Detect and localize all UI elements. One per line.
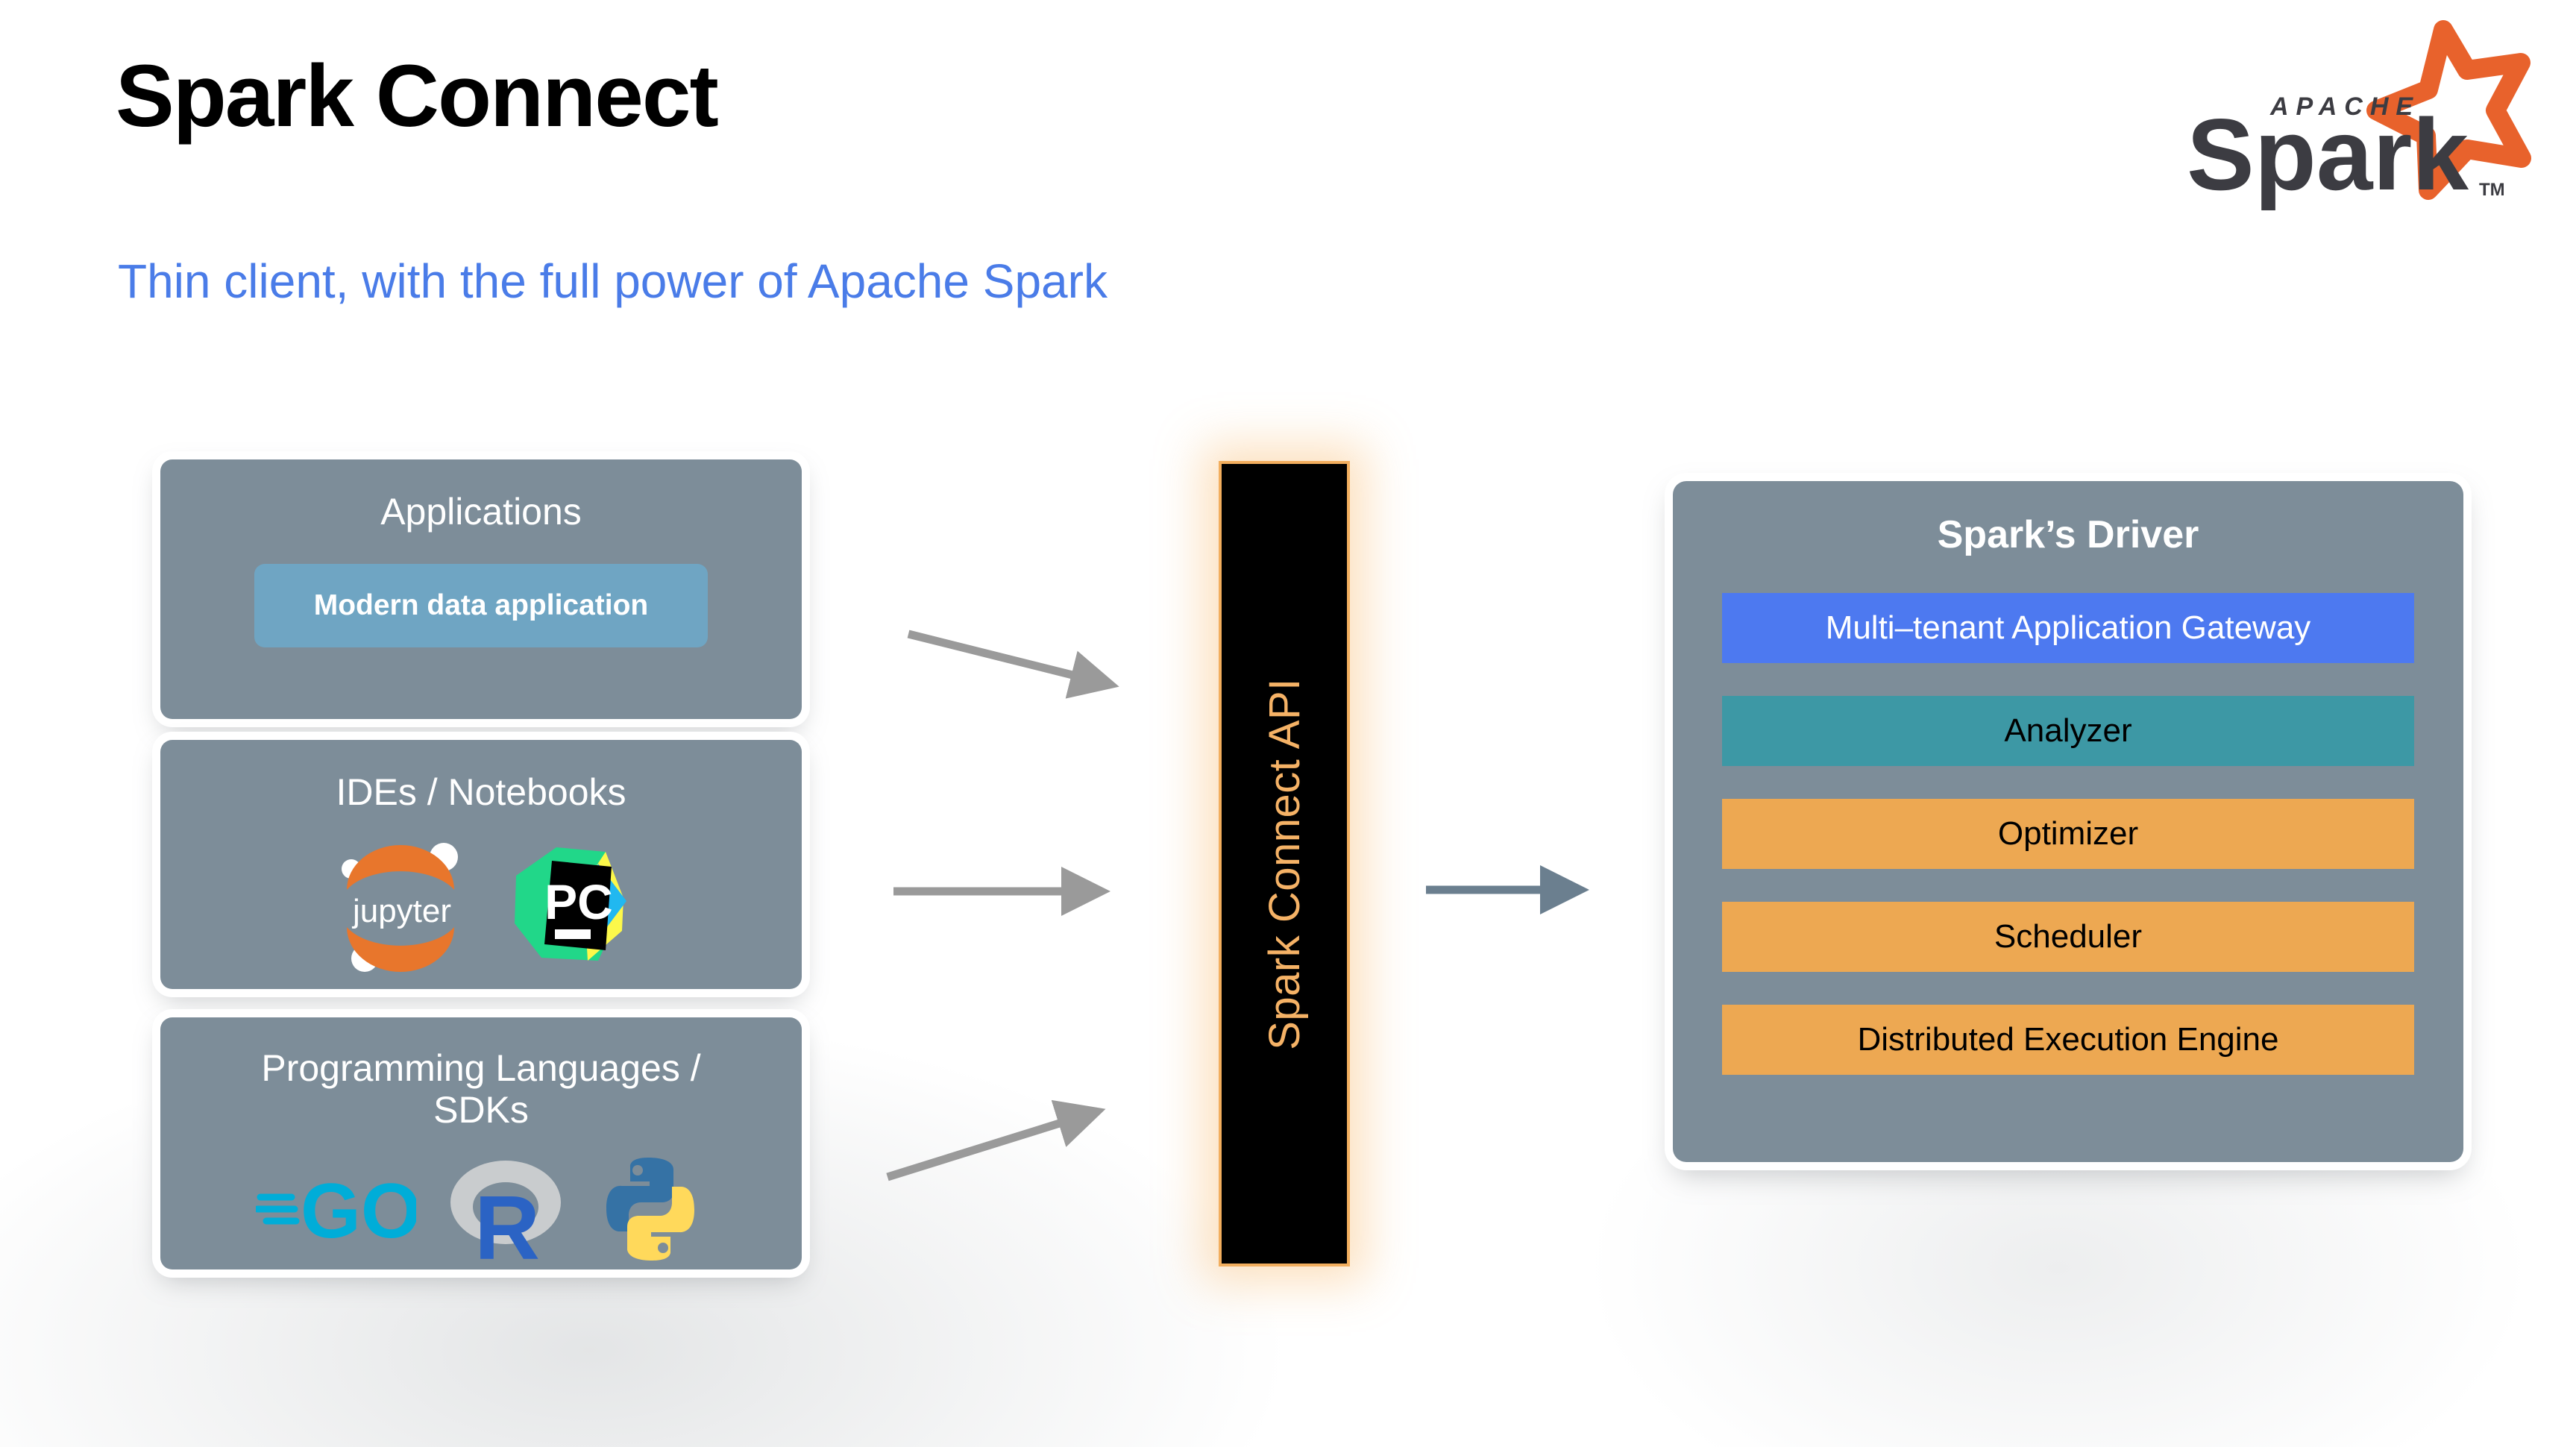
driver-component-analyzer[interactable]: Analyzer [1722,696,2414,766]
panel-ides-notebooks[interactable]: IDEs / Notebooks jupyter PC [160,740,802,989]
r-logo: R [444,1153,568,1269]
driver-component-gateway[interactable]: Multi–tenant Application Gateway [1722,593,2414,663]
panel-title-languages-line1: Programming Languages / [160,1047,802,1089]
panel-title-ides: IDEs / Notebooks [160,771,802,813]
driver-component-execution-engine[interactable]: Distributed Execution Engine [1722,1005,2414,1075]
panel-title-applications: Applications [160,491,802,533]
pycharm-pc-text: PC [544,874,613,929]
jupyter-wordmark: jupyter [351,893,450,929]
pycharm-underscore [555,929,591,939]
pycharm-logo: PC [510,841,629,972]
panel-sparks-driver[interactable]: Spark’s Driver Multi–tenant Application … [1673,481,2463,1162]
modern-data-application-card[interactable]: Modern data application [254,564,708,647]
spark-connect-api-bar[interactable]: Spark Connect API [1219,461,1350,1266]
page-title: Spark Connect [116,52,717,140]
spark-wordmark: Spark [2187,98,2469,210]
trademark-symbol: TM [2479,180,2505,200]
go-logo: GO [256,1164,416,1258]
panel-title-languages: Programming Languages / SDKs [160,1047,802,1131]
go-wordmark: GO [301,1168,416,1254]
go-speed-lines [257,1197,296,1221]
python-logo [596,1153,706,1269]
driver-panel-title: Spark’s Driver [1673,512,2463,557]
jupyter-logo: jupyter [333,838,471,976]
spark-connect-api-label: Spark Connect API [1260,678,1310,1050]
driver-component-stack: Multi–tenant Application Gateway Analyze… [1722,593,2414,1075]
driver-component-scheduler[interactable]: Scheduler [1722,902,2414,972]
panel-title-languages-line2: SDKs [160,1089,802,1131]
panel-applications[interactable]: Applications Modern data application [160,459,802,719]
page-subtitle: Thin client, with the full power of Apac… [118,257,1108,305]
apache-spark-logo: APACHE Spark TM [2166,16,2546,210]
panel-programming-languages[interactable]: Programming Languages / SDKs GO R [160,1017,802,1269]
driver-component-optimizer[interactable]: Optimizer [1722,799,2414,869]
r-letter: R [474,1177,540,1265]
